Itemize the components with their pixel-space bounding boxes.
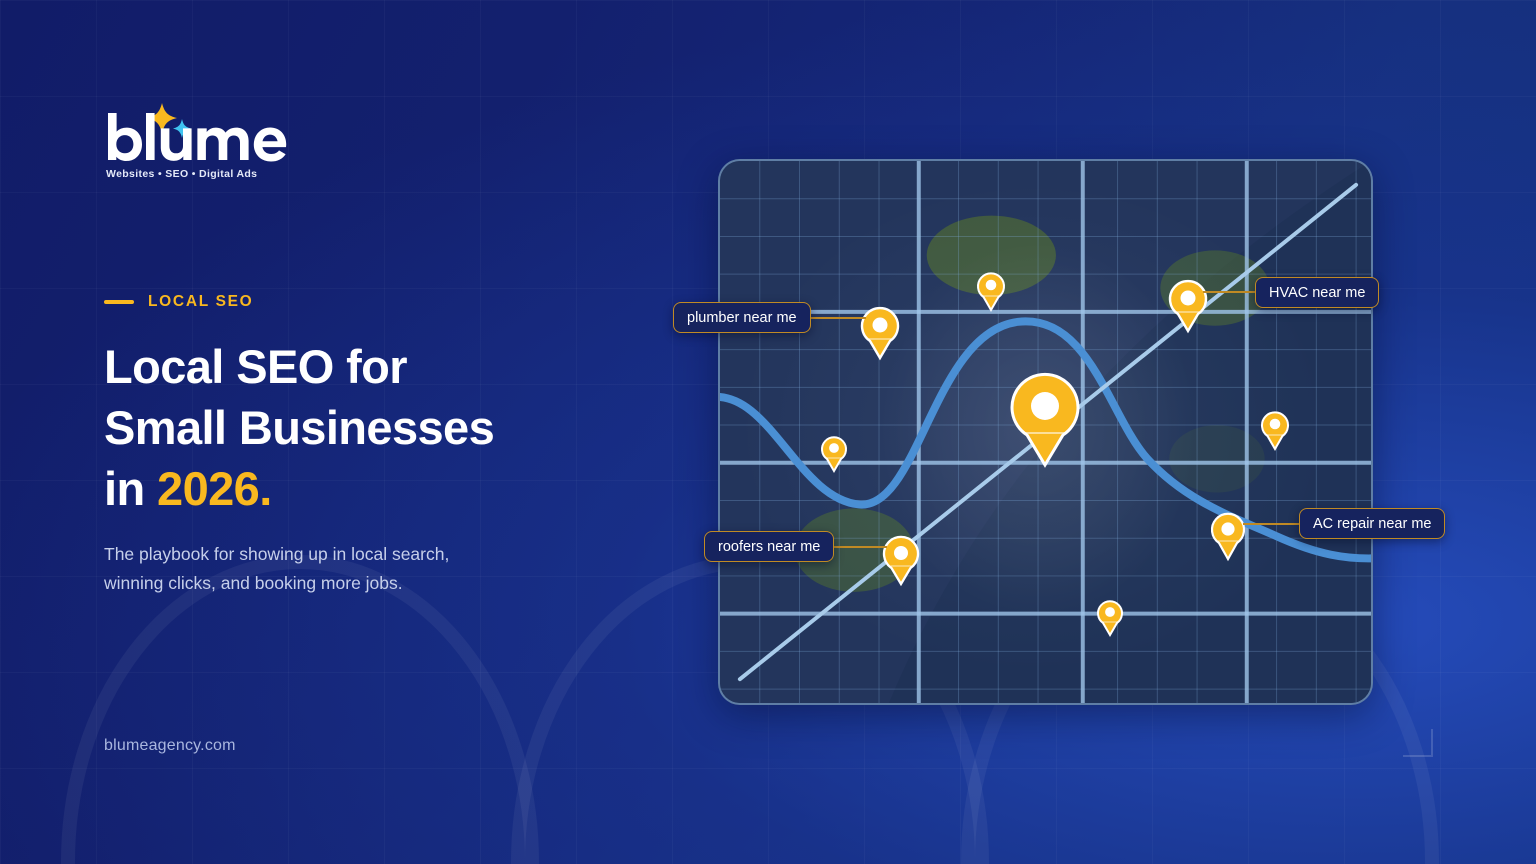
page-title: Local SEO for Small Businesses in 2026.	[104, 336, 624, 519]
headline-line-3-prefix: in	[104, 462, 157, 515]
corner-bracket-decoration	[1403, 729, 1433, 757]
eyebrow-label: LOCAL SEO	[148, 293, 253, 311]
local-search-map	[718, 159, 1373, 705]
headline-line-1: Local SEO for	[104, 340, 407, 393]
subtitle-line-2: winning clicks, and booking more jobs.	[104, 573, 403, 593]
subtitle-line-1: The playbook for showing up in local sea…	[104, 544, 449, 564]
callout-roofers-near-me[interactable]: roofers near me	[704, 531, 834, 562]
eyebrow-dash-icon	[104, 300, 134, 304]
map-pin-right[interactable]	[1259, 407, 1291, 450]
left-content-column: Websites • SEO • Digital Ads LOCAL SEO L…	[104, 0, 664, 864]
callout-hvac-near-me[interactable]: HVAC near me	[1255, 277, 1379, 308]
map-pin-bottom-middle[interactable]	[1095, 596, 1125, 636]
logo-wordmark	[108, 113, 286, 162]
eyebrow: LOCAL SEO	[104, 293, 253, 311]
site-url[interactable]: blumeagency.com	[104, 737, 236, 755]
map-pin-top-middle[interactable]	[975, 268, 1007, 311]
map-pin-primary[interactable]	[1006, 363, 1084, 467]
map-pin-left-middle[interactable]	[819, 432, 849, 472]
callout-plumber-near-me[interactable]: plumber near me	[673, 302, 811, 333]
headline-line-2: Small Businesses	[104, 401, 494, 454]
callout-ac-repair-near-me[interactable]: AC repair near me	[1299, 508, 1445, 539]
logo-tagline: Websites • SEO • Digital Ads	[106, 168, 257, 180]
map-pin-roofers[interactable]	[880, 530, 922, 585]
map-pins-layer	[718, 159, 1373, 705]
leader-line-roofers	[830, 546, 887, 548]
map-pin-ac-repair[interactable]	[1208, 507, 1248, 560]
blume-logo[interactable]: Websites • SEO • Digital Ads	[104, 103, 354, 185]
leader-line-ac-repair	[1243, 523, 1300, 525]
map-pin-plumber[interactable]	[858, 301, 902, 359]
leader-line-hvac	[1203, 291, 1255, 293]
subtitle: The playbook for showing up in local sea…	[104, 540, 524, 598]
leader-line-plumber	[810, 317, 866, 319]
headline-year-highlight: 2026.	[157, 462, 272, 515]
map-pin-hvac[interactable]	[1166, 274, 1210, 332]
poster-canvas: Websites • SEO • Digital Ads LOCAL SEO L…	[0, 0, 1536, 864]
